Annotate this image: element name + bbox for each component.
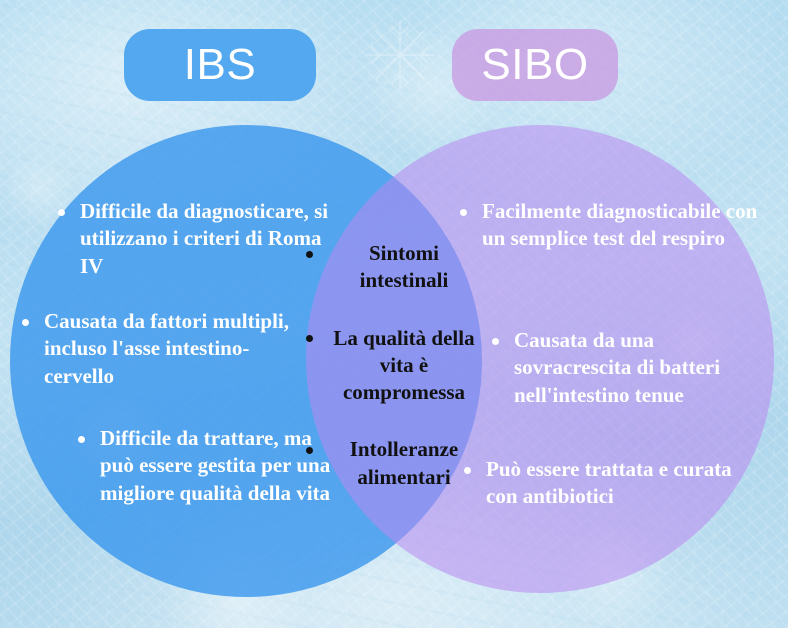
ibs-item-2-text: Causata da fattori multipli, incluso l'a… [44,308,290,390]
label-badge-sibo: SIBO [452,29,618,101]
overlap-item-2-text: La qualità della vita è compromessa [328,325,480,407]
sibo-bullet-block-1: Facilmente diagnosticabile con un sempli… [460,198,760,283]
ibs-bullet-list-1: Difficile da diagnosticare, si utilizzan… [58,198,330,280]
bullet-dot-icon [22,319,29,326]
list-item: Causata da fattori multipli, incluso l'a… [22,308,290,390]
overlap-item-3-text: Intolleranze alimentari [328,436,480,491]
sibo-bullet-list-2: Causata da una sovracrescita di batteri … [492,327,768,409]
list-item: Facilmente diagnosticabile con un sempli… [460,198,760,253]
bullet-dot-icon [306,447,313,454]
list-item: Intolleranze alimentari [306,436,480,491]
ibs-bullet-list-2: Causata da fattori multipli, incluso l'a… [22,308,290,390]
ibs-bullet-block-3: Difficile da trattare, ma può essere ges… [78,425,334,507]
list-item: Sintomi intestinali [306,240,480,295]
overlap-bullet-list: Sintomi intestinali La qualità della vit… [306,240,480,491]
ibs-bullet-list-3: Difficile da trattare, ma può essere ges… [78,425,334,507]
sibo-bullet-list-1: Facilmente diagnosticabile con un sempli… [460,198,760,253]
bullet-dot-icon [78,436,85,443]
bullet-dot-icon [460,209,467,216]
overlap-item-1-text: Sintomi intestinali [328,240,480,295]
list-item: La qualità della vita è compromessa [306,325,480,407]
sibo-item-3-text: Può essere trattata e curata con antibio… [486,456,756,511]
bullet-dot-icon [492,338,499,345]
bullet-dot-icon [306,335,313,342]
sibo-item-2-text: Causata da una sovracrescita di batteri … [514,327,768,409]
list-item: Può essere trattata e curata con antibio… [464,456,756,511]
list-item: Difficile da diagnosticare, si utilizzan… [58,198,330,280]
sibo-item-1-text: Facilmente diagnosticabile con un sempli… [482,198,760,253]
ibs-bullet-block-1: Difficile da diagnosticare, si utilizzan… [58,198,330,304]
bullet-dot-icon [306,251,313,258]
list-item: Causata da una sovracrescita di batteri … [492,327,768,409]
sibo-bullet-block-3: Può essere trattata e curata con antibio… [464,456,756,511]
bullet-dot-icon [58,209,65,216]
overlap-bullet-block: Sintomi intestinali La qualità della vit… [306,240,480,521]
infographic-canvas: IBS SIBO Difficile da diagnosticare, si … [0,0,788,628]
label-badge-ibs: IBS [124,29,316,101]
sibo-bullet-list-3: Può essere trattata e curata con antibio… [464,456,756,511]
ibs-bullet-block-2: Causata da fattori multipli, incluso l'a… [22,308,290,390]
sibo-bullet-block-2: Causata da una sovracrescita di batteri … [492,327,768,409]
ibs-item-1-text: Difficile da diagnosticare, si utilizzan… [80,198,330,280]
list-item: Difficile da trattare, ma può essere ges… [78,425,334,507]
label-badge-ibs-text: IBS [184,40,256,90]
ibs-item-3-text: Difficile da trattare, ma può essere ges… [100,425,334,507]
bullet-dot-icon [464,467,471,474]
label-badge-sibo-text: SIBO [481,40,588,90]
